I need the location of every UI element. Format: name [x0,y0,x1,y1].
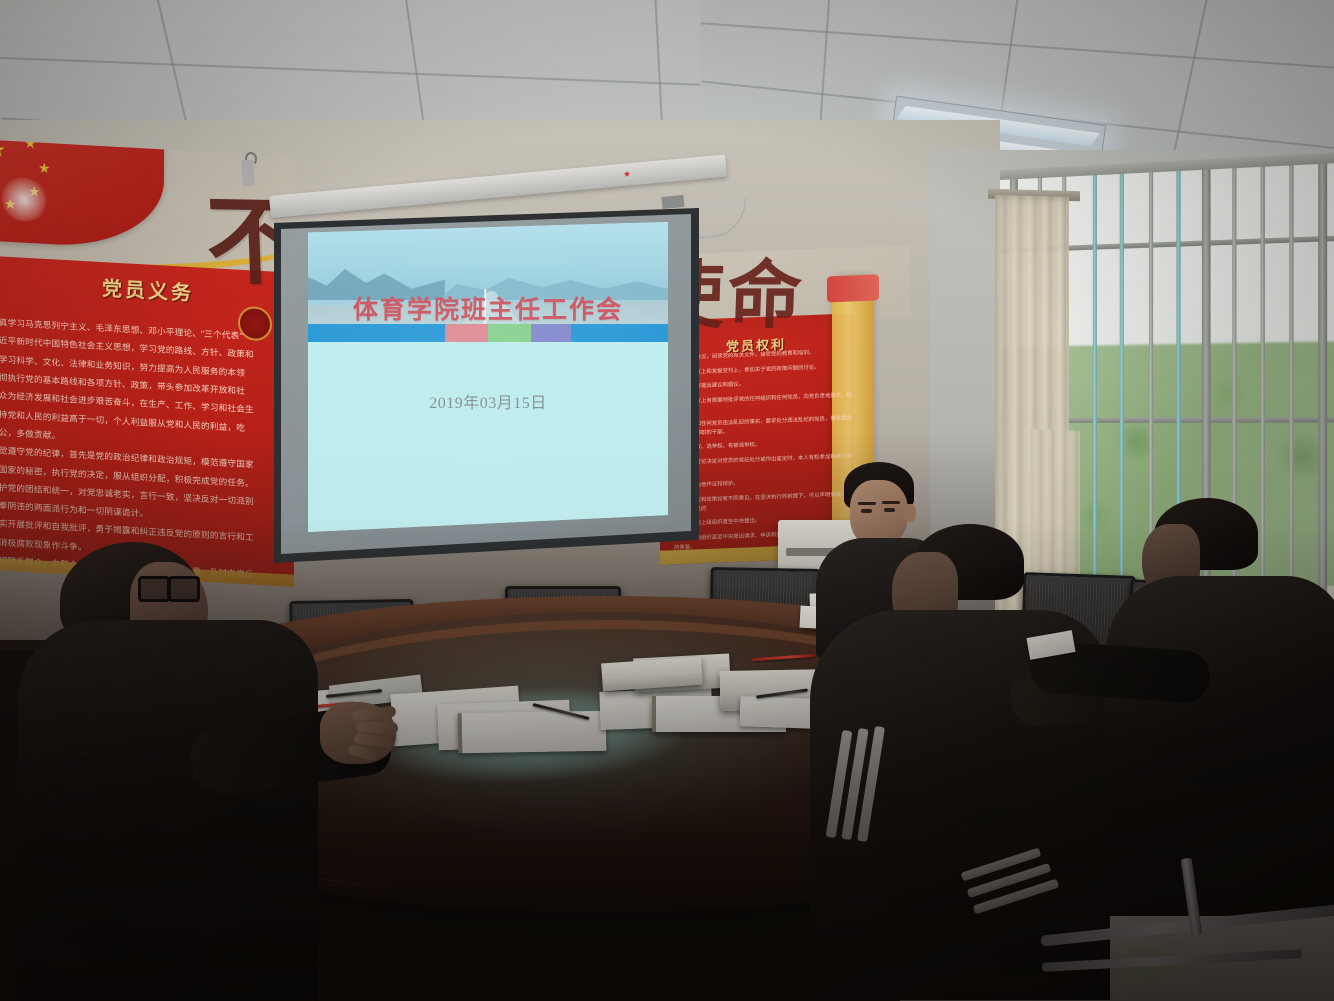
slide-accent-bars [308,324,668,341]
person-right-foreground [1120,498,1334,918]
flag-star-icon: ★ [0,140,6,161]
torso [1106,576,1334,916]
slide-date: 2019年03月15日 [308,389,668,413]
screen-bracket [661,195,684,209]
banner-text-line: 在党的会议上和党报党刊上，参加关于党的政策问题的讨论。 [674,362,852,377]
brand-star-icon [623,170,631,178]
flag-star-icon: ★ [38,160,51,175]
flag-star-icon: ★ [24,140,37,150]
slide-accent-bar [308,324,445,341]
screen-mount-left [241,160,255,187]
slide-accent-bar [571,324,668,341]
meeting-room-photo: ★ ★ ★ ★ ★ 党员义务 认真学习马克思列宁主义、毛泽东思想、邓小平理论、"… [0,0,1334,1001]
hand [320,702,396,764]
slide-body [308,342,668,532]
ear [904,504,916,522]
slide-title: 体育学院班主任工作会 [308,290,668,326]
person-mid-foreground [830,524,1130,1001]
presentation-slide: 体育学院班主任工作会 2019年03月15日 [308,222,668,532]
slide-accent-bar [445,324,488,341]
banner-text-line: 在党的会议上有根据地批评党的任何组织和任何党员，向党负责地揭发、检举党的 [674,391,852,415]
slide-accent-bar [488,324,531,341]
slide-accent-bar [531,324,571,341]
banner-text-line: 对党的工作提出建议和倡议。 [674,377,852,392]
torso [18,620,318,1001]
person-left-foreground [0,520,410,1001]
eyeglasses [138,576,200,598]
banner-left-heading: 党员义务 [102,272,194,306]
